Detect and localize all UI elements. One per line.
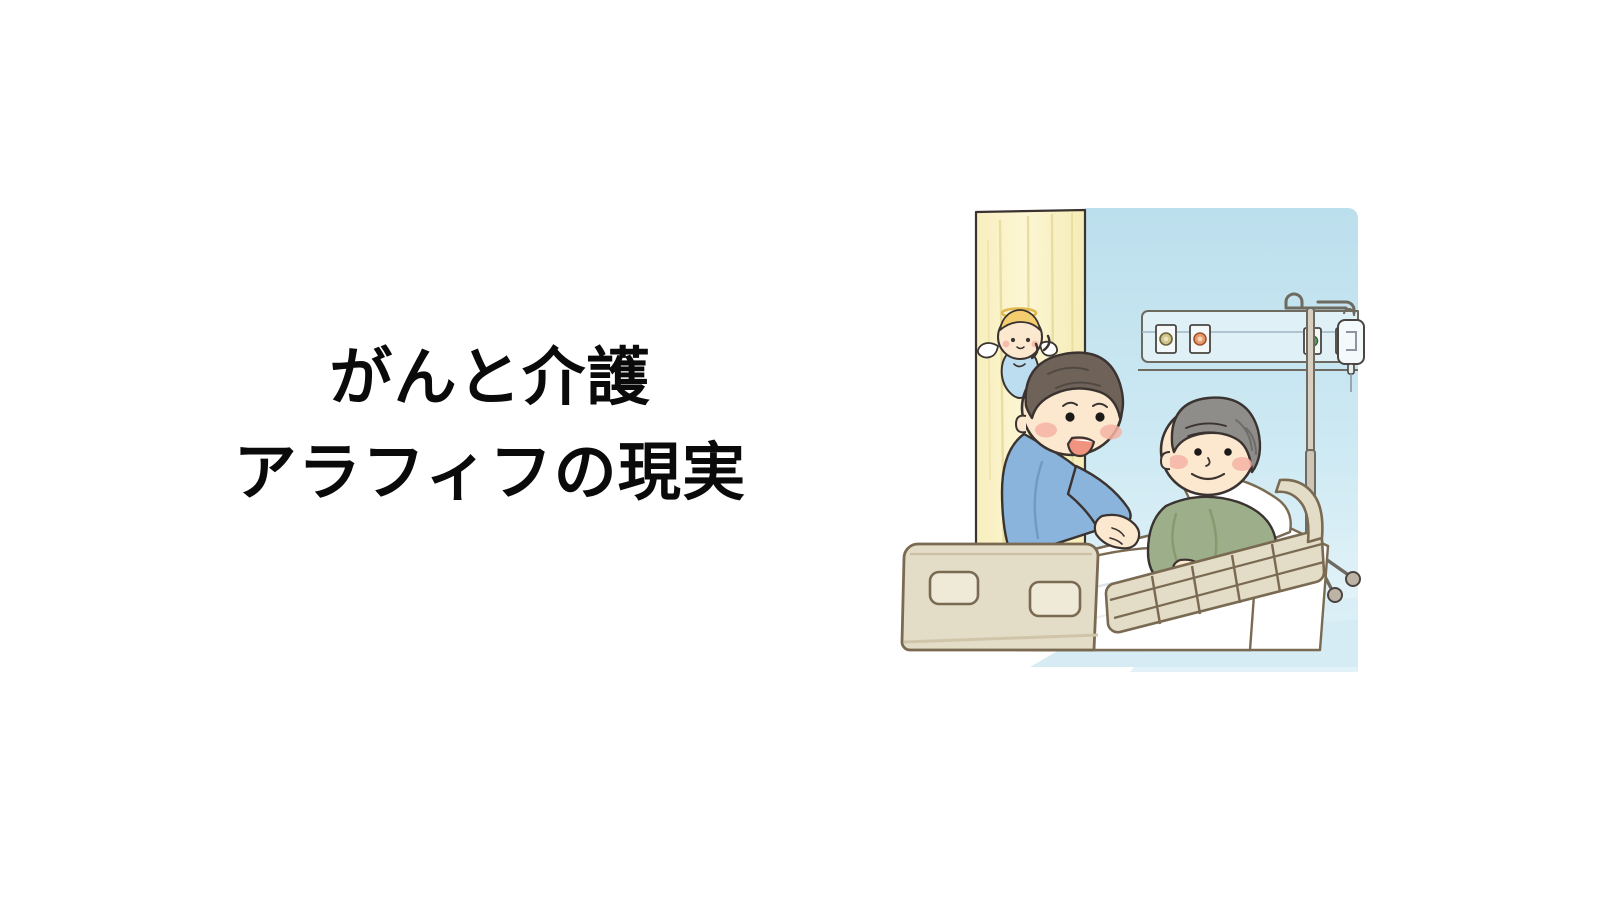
outlet-air (1190, 325, 1210, 353)
page-canvas: がんと介護 アラフィフの現実 (0, 0, 1600, 900)
title-line-1: がんと介護 (180, 336, 800, 419)
outlet-oxygen (1156, 325, 1176, 353)
hospital-bedside-care-illustration (880, 180, 1380, 680)
illustration-svg (880, 180, 1380, 680)
title-line-2: アラフィフの現実 (180, 431, 800, 514)
footboard-cutout-right (1030, 582, 1080, 616)
bed-footboard (902, 544, 1098, 650)
page-title: がんと介護 アラフィフの現実 (180, 336, 800, 514)
footboard-cutout-left (930, 572, 978, 604)
wall-panel (1138, 311, 1358, 370)
